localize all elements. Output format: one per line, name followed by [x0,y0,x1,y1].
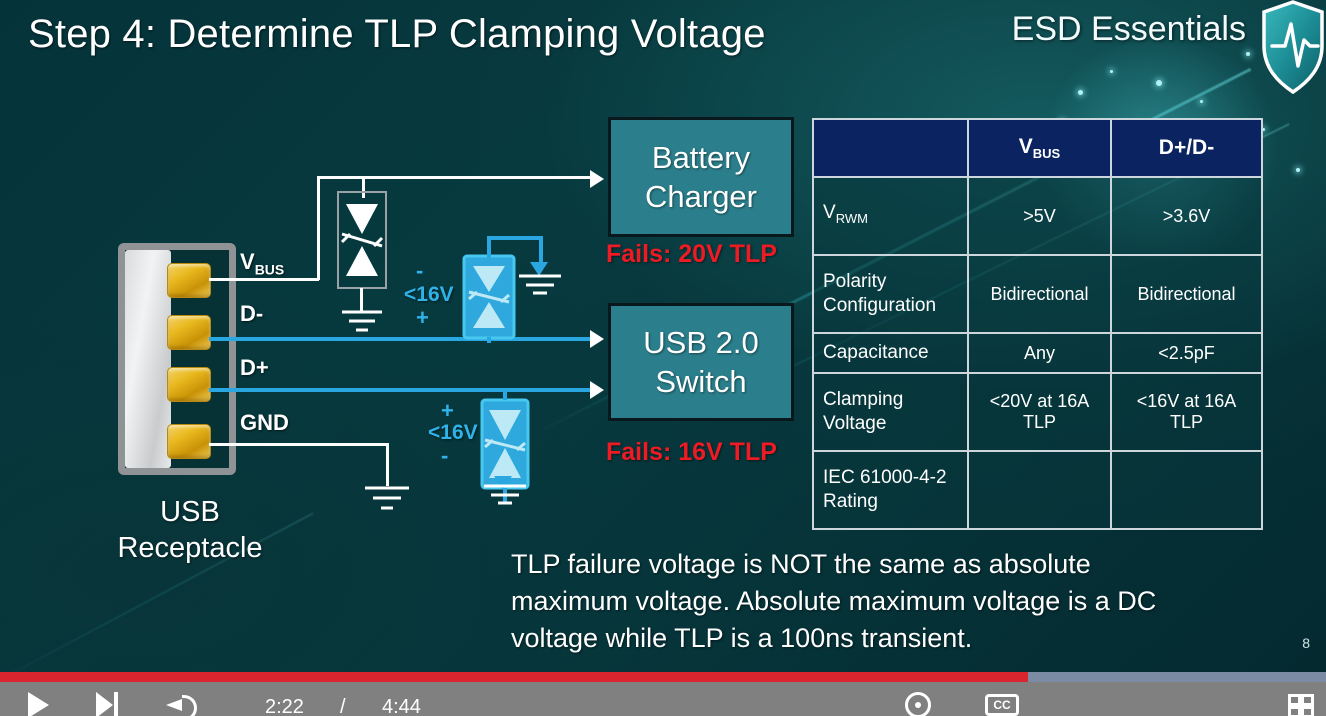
slide-number: 8 [1302,635,1310,651]
background-particle [1078,90,1083,95]
vrwm-sub: RWM [836,211,868,226]
ground-symbol-connector [360,484,414,514]
wire-arrow-vbus [590,170,604,188]
upper-tvs-minus-sign: - [416,258,423,284]
total-duration: 4:44 [382,696,421,716]
usb-receptacle-plate [125,250,171,468]
spec-table-header-dpdm: D+/D- [1111,119,1262,177]
esd-shield-pulse-icon [1260,0,1326,96]
spec-table-header-vbus: VBUS [968,119,1111,177]
signal-label-vbus-main: V [240,249,255,274]
fullscreen-button[interactable] [1288,694,1314,716]
fullscreen-icon [1288,694,1314,716]
block-battery-charger: Battery Charger [608,117,794,237]
spec-row-label-clamping: Clamping Voltage [813,373,968,451]
header-vbus-sub: BUS [1033,146,1060,161]
wire-lower-tvs-top [503,388,507,400]
background-particle [1156,80,1162,86]
wire-dplus [209,388,592,392]
brand-label: ESD Essentials [1012,10,1246,49]
signal-label-vbus: VBUS [240,249,284,277]
play-icon [28,692,49,716]
video-player-controls[interactable]: 2:22 / 4:44 CC [0,672,1326,716]
vrwm-main: V [823,202,836,223]
time-separator: / [340,696,346,716]
block-battery-charger-line1: Battery [645,138,757,177]
video-player-stage: Step 4: Determine TLP Clamping Voltage E… [0,0,1326,716]
current-time: 2:22 [265,696,304,716]
captions-button[interactable]: CC [985,694,1019,716]
upper-tvs-label: <16V [404,283,454,307]
table-row: VRWM >5V >3.6V [813,177,1262,255]
settings-button[interactable] [905,692,931,716]
wire-vbus-segment [317,176,592,179]
wire-gnd-segment [209,443,389,446]
usb-caption-line2: Receptacle [100,530,280,566]
signal-label-gnd: GND [240,410,289,436]
table-row: Polarity Configuration Bidirectional Bid… [813,255,1262,333]
spec-cell-iec-dpdm [1111,451,1262,529]
upper-tvs-plus-sign: + [416,305,429,331]
wire-dminus [209,337,592,341]
wire-arrow-dminus [590,330,604,348]
spec-cell-iec-vbus [968,451,1111,529]
spec-cell-capacitance-dpdm: <2.5pF [1111,333,1262,373]
block-usb-switch: USB 2.0 Switch [608,303,794,421]
progress-bar-track[interactable] [0,672,1326,682]
block-usb-switch-line1: USB 2.0 [643,323,758,362]
upper-tvs-diode [462,254,516,340]
wire-vbus-segment [317,176,320,280]
wire-upper-tvs-top [487,236,543,240]
spec-cell-polarity-dpdm: Bidirectional [1111,255,1262,333]
closed-captions-icon: CC [985,694,1019,716]
wire-upper-tvs-bottom [487,337,491,343]
background-particle [1246,52,1250,56]
spec-cell-capacitance-vbus: Any [968,333,1111,373]
signal-label-dplus: D+ [240,355,269,381]
block-battery-charger-line2: Charger [645,177,757,216]
spec-cell-vrwm-dpdm: >3.6V [1111,177,1262,255]
header-vbus-main: V [1019,135,1033,158]
wire-arrow-dplus [590,381,604,399]
ground-symbol-lower-tvs [481,482,529,508]
table-row: Capacitance Any <2.5pF [813,333,1262,373]
ground-symbol-upper-tvs [515,272,565,298]
lower-tvs-minus-sign: - [441,443,448,469]
signal-label-dminus: D- [240,301,263,327]
spec-row-label-vrwm: VRWM [813,177,968,255]
table-row: IEC 61000-4-2 Rating [813,451,1262,529]
signal-label-vbus-sub: BUS [255,261,285,277]
next-track-icon [96,692,120,716]
wire-upper-tvs-top [539,236,543,264]
lower-tvs-label: <16V [428,421,478,445]
wire-gnd-segment [386,443,389,486]
spec-row-label-iec: IEC 61000-4-2 Rating [813,451,968,529]
slide-body-text: TLP failure voltage is NOT the same as a… [511,546,1211,657]
usb-pin-dminus [167,315,211,350]
spec-cell-clamping-vbus: <20V at 16A TLP [968,373,1111,451]
spec-table: VBUS D+/D- VRWM >5V >3.6V Polarity Confi… [812,118,1263,530]
volume-button[interactable] [166,692,196,716]
usb-caption-line1: USB [100,494,280,530]
block-usb-switch-line2: Switch [643,362,758,401]
ground-symbol-vbus [336,308,388,338]
usb-receptacle-caption: USB Receptacle [100,494,280,566]
play-button[interactable] [28,692,49,716]
background-particle [1110,70,1113,73]
background-particle [1200,100,1203,103]
usb-pin-vbus [167,263,211,298]
progress-bar-fill[interactable] [0,672,1028,682]
spec-table-header-blank [813,119,968,177]
volume-icon [166,692,196,716]
spec-row-label-capacitance: Capacitance [813,333,968,373]
wire-vbus-segment [209,278,319,281]
spec-table-header-row: VBUS D+/D- [813,119,1262,177]
usb-pin-dplus [167,367,211,402]
slide-title: Step 4: Determine TLP Clamping Voltage [28,12,766,57]
vbus-tvs-diode-unprotected [336,190,388,290]
fail-note-battery-charger: Fails: 20V TLP [606,240,777,269]
spec-cell-polarity-vbus: Bidirectional [968,255,1111,333]
spec-cell-vrwm-vbus: >5V [968,177,1111,255]
spec-cell-clamping-dpdm: <16V at 16A TLP [1111,373,1262,451]
fail-note-usb-switch: Fails: 16V TLP [606,438,777,467]
background-particle [1296,168,1300,172]
settings-gear-icon [905,692,931,716]
spec-row-label-polarity: Polarity Configuration [813,255,968,333]
table-row: Clamping Voltage <20V at 16A TLP <16V at… [813,373,1262,451]
usb-pin-gnd [167,424,211,459]
next-track-button[interactable] [96,692,120,716]
